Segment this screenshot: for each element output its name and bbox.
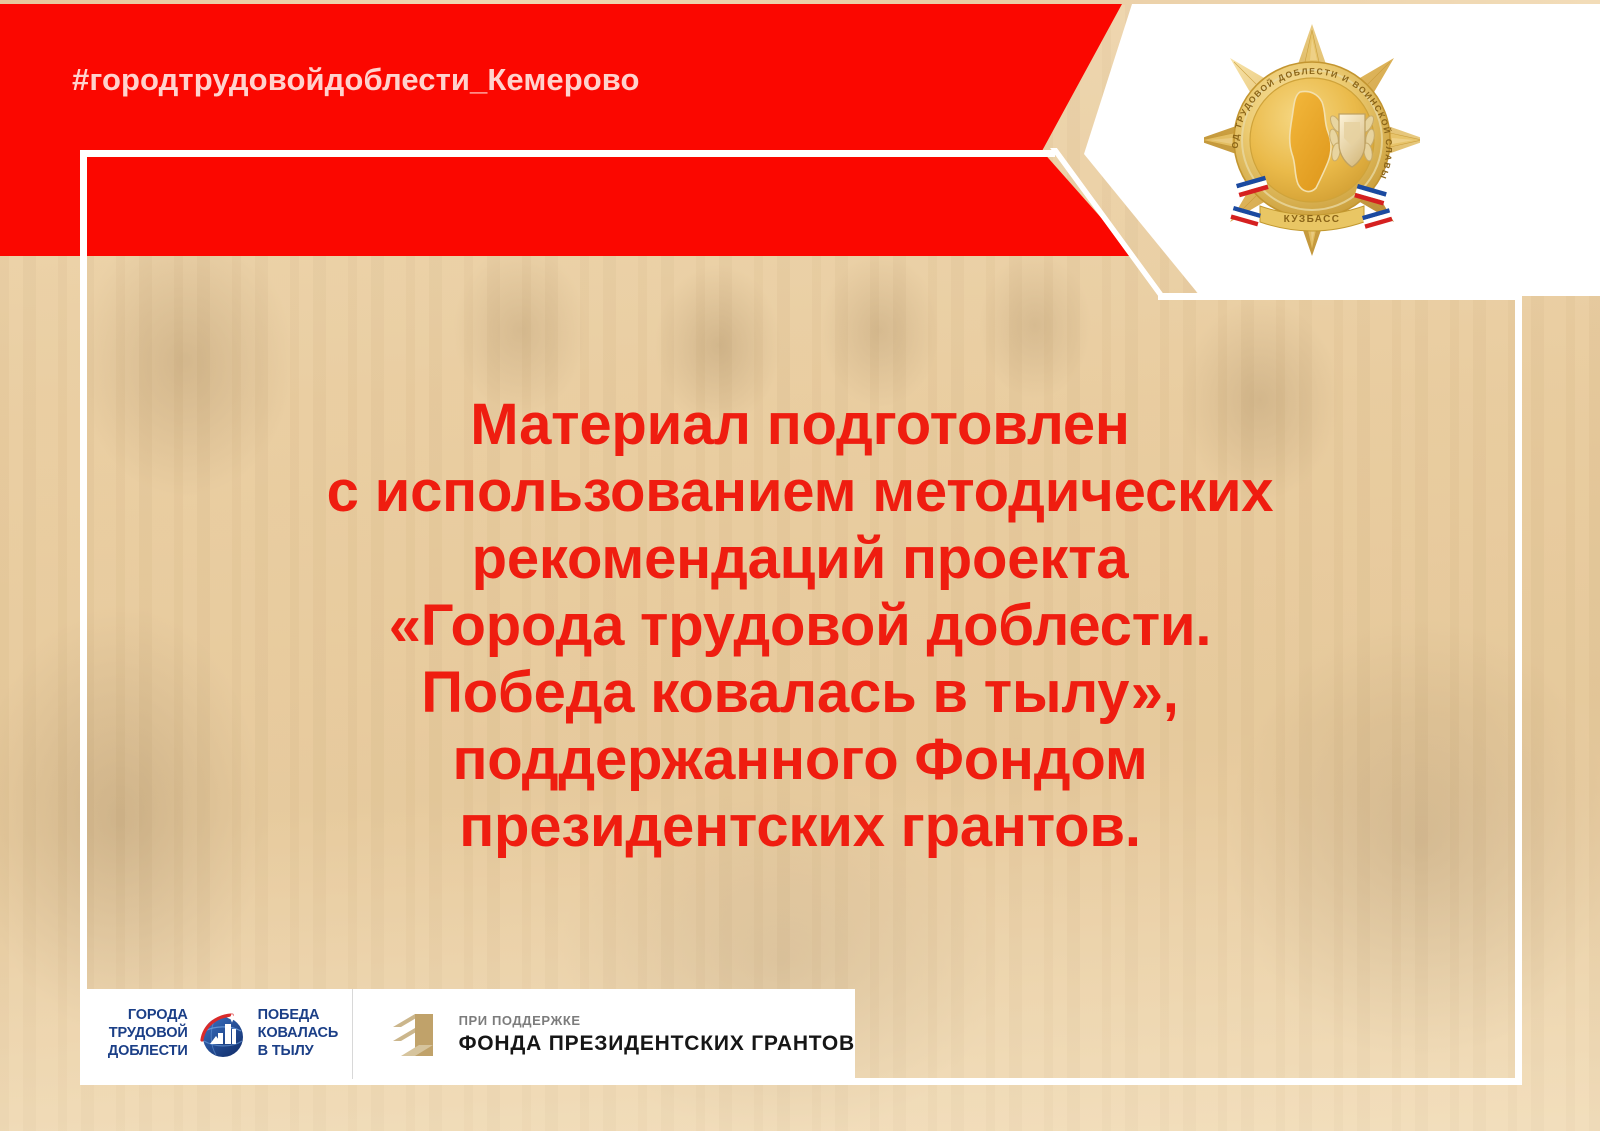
svg-text:КУЗБАСС: КУЗБАСС	[1284, 214, 1341, 225]
logo-goroda-trudovoy-doblesti: ГОРОДА ТРУДОВОЙ ДОБЛЕСТИ	[80, 1007, 352, 1061]
main-title-line-4: «Города трудовой доблести.	[150, 593, 1450, 660]
frame-line-right-top	[1158, 293, 1522, 300]
frame-line-right	[1515, 293, 1522, 1085]
logo-gtd-left-line-2: ДОБЛЕСТИ	[96, 1043, 188, 1061]
logo-gtd-left-line-1: ГОРОДА ТРУДОВОЙ	[96, 1007, 188, 1042]
logo-gtd-right-text: ПОБЕДА КОВАЛАСЬ В ТЫЛУ	[258, 1007, 352, 1060]
logo-gtd-left-text: ГОРОДА ТРУДОВОЙ ДОБЛЕСТИ	[96, 1007, 188, 1060]
main-title-line-2: с использованием методических	[150, 459, 1450, 526]
main-title: Материал подготовлен с использованием ме…	[150, 392, 1450, 861]
frame-line-top	[80, 150, 1055, 157]
header-red-band	[0, 4, 1135, 256]
fpg-mark-icon	[389, 1005, 445, 1063]
fpg-big-label: ФОНДА ПРЕЗИДЕНТСКИХ ГРАНТОВ	[459, 1032, 855, 1056]
main-title-line-6: поддержанного Фондом	[150, 727, 1450, 794]
medal-emblem-icon: ГОРОД ТРУДОВОЙ ДОБЛЕСТИ И ВОИНСКОЙ СЛАВЫ	[1204, 24, 1420, 256]
frame-line-bottom	[80, 1078, 1522, 1085]
globe-icon	[196, 1007, 250, 1061]
slide-root: #городтрудовойдоблести_Кемерово	[0, 0, 1600, 1131]
footer-logo-strip: ГОРОДА ТРУДОВОЙ ДОБЛЕСТИ	[80, 989, 855, 1079]
main-title-line-1: Материал подготовлен	[150, 392, 1450, 459]
main-title-line-5: Победа ковалась в тылу»,	[150, 660, 1450, 727]
main-title-line-3: рекомендаций проекта	[150, 526, 1450, 593]
fpg-text-block: ПРИ ПОДДЕРЖКЕ ФОНДА ПРЕЗИДЕНТСКИХ ГРАНТО…	[459, 1013, 855, 1056]
logo-gtd-right-line-1: ПОБЕДА КОВАЛАСЬ	[258, 1007, 352, 1042]
logo-fond-prezidentskih-grantov: ПРИ ПОДДЕРЖКЕ ФОНДА ПРЕЗИДЕНТСКИХ ГРАНТО…	[353, 1005, 855, 1063]
fpg-small-label: ПРИ ПОДДЕРЖКЕ	[459, 1013, 855, 1028]
logo-gtd-right-line-2: В ТЫЛУ	[258, 1043, 352, 1061]
frame-line-left	[80, 150, 87, 1085]
main-title-line-7: президентских грантов.	[150, 794, 1450, 861]
hashtag-label: #городтрудовойдоблести_Кемерово	[72, 62, 640, 98]
